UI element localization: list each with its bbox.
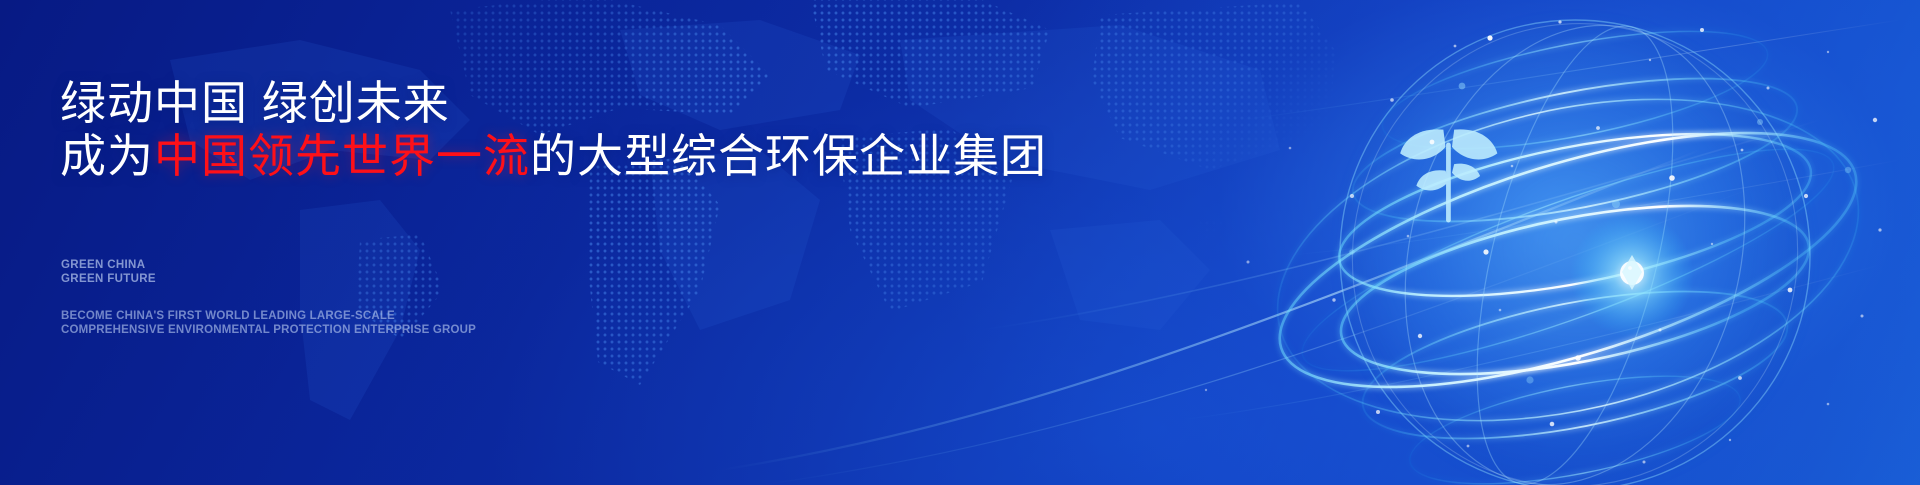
headline-line-2-prefix: 成为 bbox=[60, 130, 154, 182]
sprout-leaf-icon bbox=[1400, 129, 1497, 222]
headline-line-2: 成为中国领先世界一流的大型综合环保企业集团 bbox=[60, 131, 1047, 182]
hero-banner: 绿动中国 绿创未来 成为中国领先世界一流的大型综合环保企业集团 GREEN CH… bbox=[0, 0, 1920, 485]
slogan-english-line-2: GREEN FUTURE bbox=[61, 273, 156, 287]
headline-line-2-highlight: 中国领先世界一流 bbox=[154, 130, 530, 182]
headline-line-2-suffix: 的大型综合环保企业集团 bbox=[530, 130, 1047, 182]
slogan-english: GREEN CHINA GREEN FUTURE bbox=[61, 259, 156, 286]
slogan-english-line-1: GREEN CHINA bbox=[61, 259, 145, 271]
wireframe-globe-icon bbox=[1250, 0, 1920, 485]
globe-glow bbox=[1340, 20, 1810, 485]
headline-line-1: 绿动中国 绿创未来 bbox=[60, 78, 450, 129]
tagline-english-line-1: BECOME CHINA'S FIRST WORLD LEADING LARGE… bbox=[61, 310, 395, 322]
tagline-english: BECOME CHINA'S FIRST WORLD LEADING LARGE… bbox=[61, 310, 476, 337]
banner-text-content: 绿动中国 绿创未来 成为中国领先世界一流的大型综合环保企业集团 GREEN CH… bbox=[58, 0, 1108, 485]
tagline-english-line-2: COMPREHENSIVE ENVIRONMENTAL PROTECTION E… bbox=[61, 324, 476, 338]
